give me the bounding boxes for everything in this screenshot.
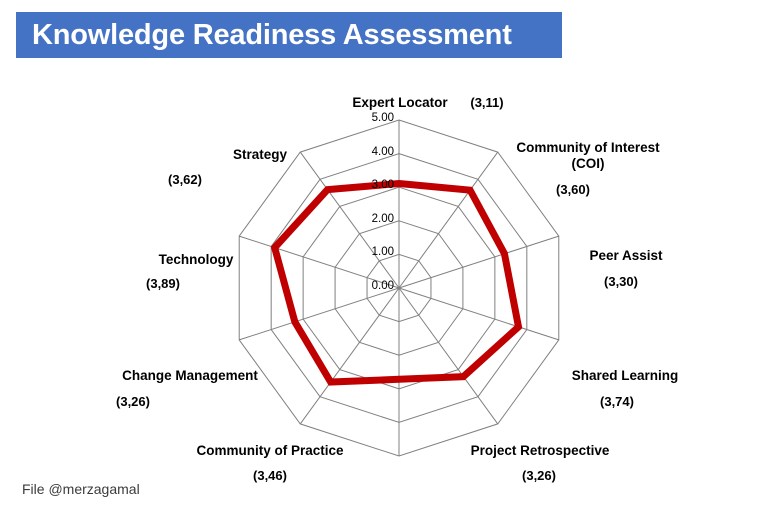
- axis-label-community-of-practice: Community of Practice: [170, 443, 370, 459]
- axis-value-community-of-practice: (3,46): [225, 468, 315, 483]
- axis-label-peer-assist: Peer Assist: [556, 248, 696, 264]
- radial-tick-4: 4.00: [356, 146, 394, 158]
- axis-value-strategy: (3,62): [140, 172, 230, 187]
- axis-value-project-retrospective: (3,26): [494, 468, 584, 483]
- radial-tick-2: 2.00: [356, 213, 394, 225]
- grid-spoke-7: [239, 288, 399, 340]
- grid-spoke-2: [399, 236, 559, 288]
- axis-label-strategy: Strategy: [190, 147, 330, 163]
- axis-label-community-of-interest: Community of Interest (COI): [498, 140, 678, 171]
- axis-label-change-management: Change Management: [90, 368, 290, 384]
- page-title: Knowledge Readiness Assessment: [32, 19, 512, 52]
- radial-tick-0: 0.00: [356, 280, 394, 292]
- footer-credit: File @merzagamal: [22, 481, 140, 497]
- axis-label-technology: Technology: [126, 252, 266, 268]
- radar-chart: 0.00 1.00 2.00 3.00 4.00 5.00 Expert Loc…: [0, 62, 770, 482]
- axis-label-shared-learning: Shared Learning: [540, 368, 710, 384]
- axis-value-expert-locator: (3,11): [452, 95, 522, 110]
- axis-value-peer-assist: (3,30): [576, 274, 666, 289]
- axis-value-change-management: (3,26): [88, 394, 178, 409]
- axis-value-shared-learning: (3,74): [572, 394, 662, 409]
- radial-tick-5: 5.00: [356, 112, 394, 124]
- axis-value-community-of-interest: (3,60): [528, 182, 618, 197]
- axis-value-technology: (3,89): [118, 276, 208, 291]
- radial-tick-3: 3.00: [356, 179, 394, 191]
- title-banner: Knowledge Readiness Assessment: [16, 12, 562, 58]
- axis-label-project-retrospective: Project Retrospective: [440, 443, 640, 459]
- grid-spoke-3: [399, 288, 559, 340]
- radial-tick-1: 1.00: [356, 246, 394, 258]
- radar-chart-svg: [0, 62, 770, 482]
- series-polygon-readiness: [275, 184, 519, 383]
